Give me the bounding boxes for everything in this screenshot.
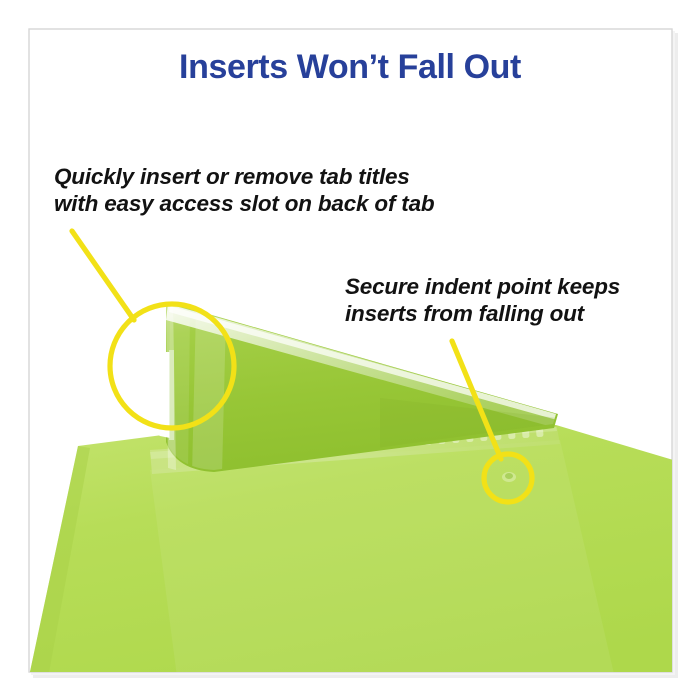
product-photo: [0, 0, 700, 700]
divider-body: [24, 425, 700, 700]
product-feature-image: Inserts Won’t Fall Out Quickly insert or…: [0, 0, 700, 700]
secure-indent-point: [502, 472, 516, 482]
